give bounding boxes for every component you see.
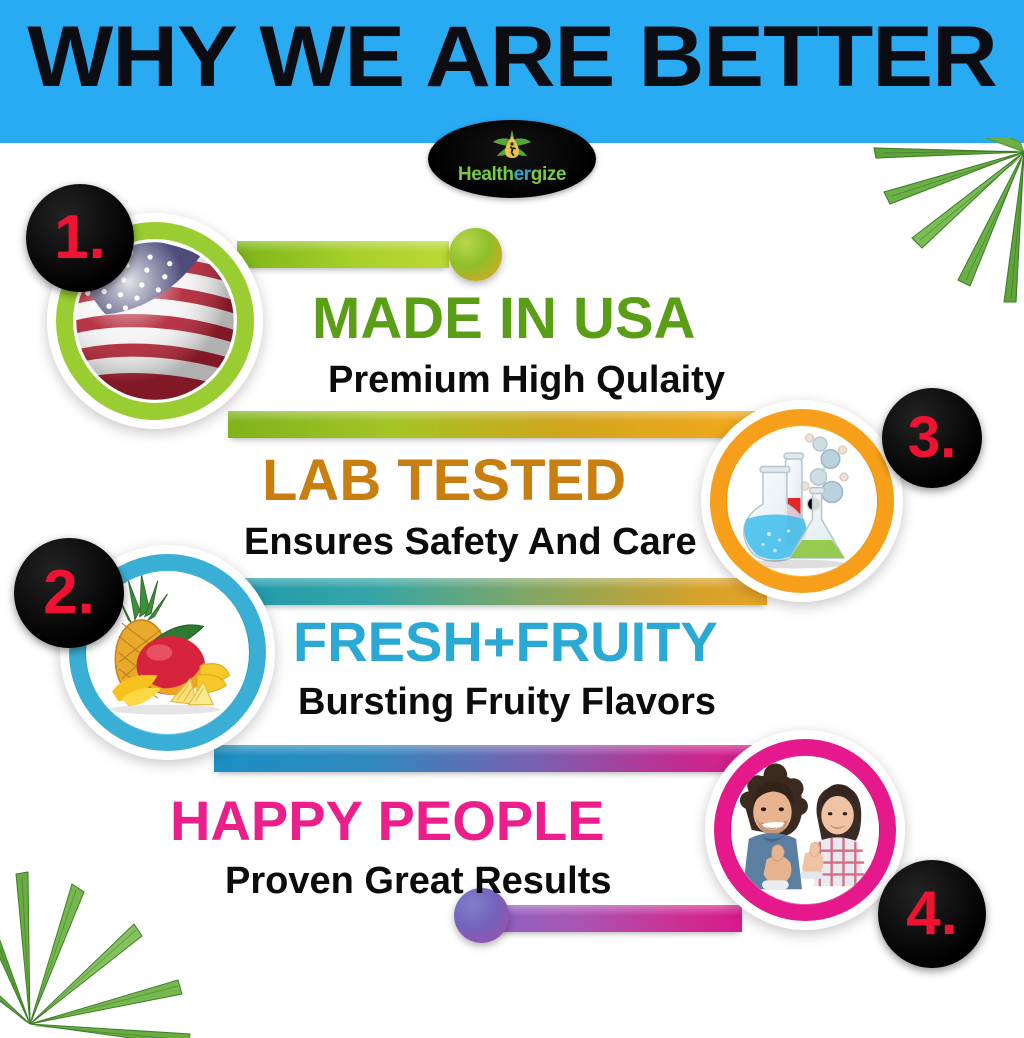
feature-row-happy-people: HAPPY PEOPLE Proven Great Results — [170, 793, 611, 900]
connector-bar-4 — [214, 745, 774, 772]
badge-number-2: 2. — [14, 538, 124, 648]
feature-row-made-in-usa: MADE IN USA Premium High Qulaity — [312, 290, 725, 399]
feature-subheading: Premium High Qulaity — [328, 361, 725, 399]
feature-icon-happy-people — [705, 730, 905, 930]
connector-bar-1 — [237, 241, 449, 268]
badge-number-4: 4. — [878, 860, 986, 968]
brand-name-part1: Health — [458, 164, 514, 185]
feature-row-lab-tested: LAB TESTED Ensures Safety And Care — [262, 452, 697, 561]
feature-heading: FRESH+FRUITY — [293, 614, 718, 670]
brand-logo[interactable]: Healthergize — [428, 120, 596, 198]
feature-row-fresh-fruity: FRESH+FRUITY Bursting Fruity Flavors — [293, 614, 718, 721]
cannabis-leaf-droplet-runner-icon — [483, 126, 541, 166]
feature-subheading: Proven Great Results — [225, 862, 611, 900]
connector-bar-3 — [222, 578, 767, 605]
brand-name-part3: gize — [531, 164, 566, 185]
feature-icon-lab-tested — [701, 400, 903, 602]
laboratory-flasks-icon — [727, 426, 877, 576]
page-title: WHY WE ARE BETTER — [0, 14, 1024, 100]
connector-bar-2 — [228, 411, 763, 438]
badge-number-1: 1. — [26, 184, 134, 292]
connector-bar-5 — [489, 905, 742, 932]
brand-name: Healthergize — [428, 164, 596, 186]
badge-number-3: 3. — [882, 388, 982, 488]
connector-dot-1 — [449, 228, 502, 281]
feature-heading: LAB TESTED — [262, 452, 697, 510]
feature-heading: MADE IN USA — [312, 290, 725, 348]
brand-name-part2: er — [514, 164, 531, 185]
cannabis-leaf-icon-top-right — [836, 138, 1024, 348]
feature-heading: HAPPY PEOPLE — [170, 793, 611, 849]
feature-subheading: Bursting Fruity Flavors — [298, 683, 718, 721]
happy-couple-thumbs-up-icon — [731, 756, 879, 904]
feature-subheading: Ensures Safety And Care — [244, 523, 697, 561]
